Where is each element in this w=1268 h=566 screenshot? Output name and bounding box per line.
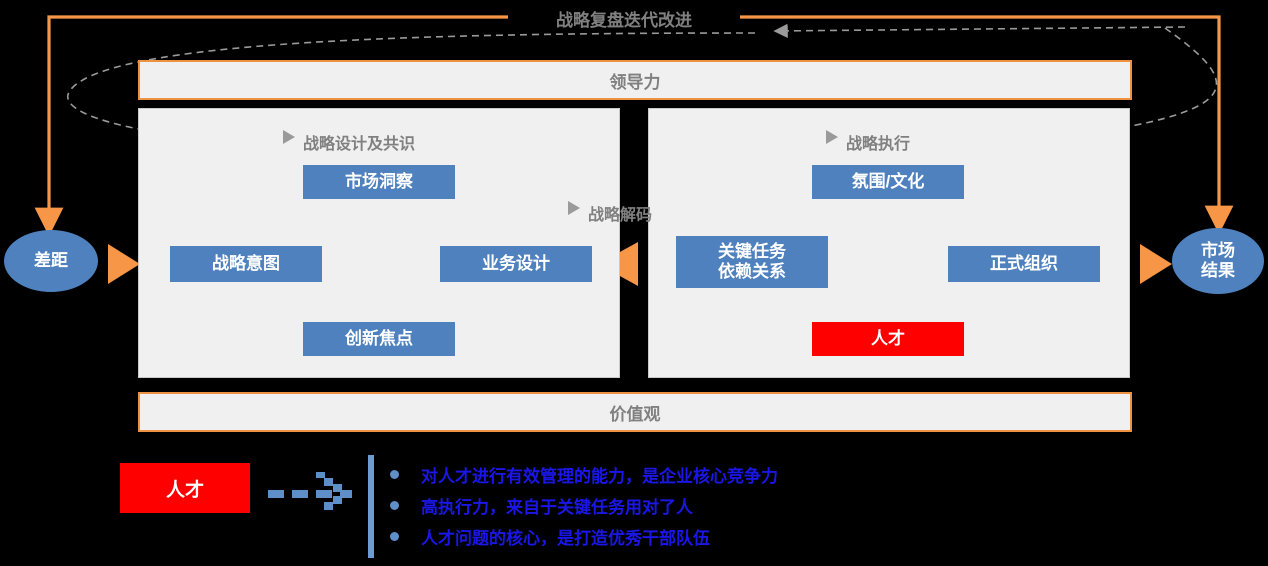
section-label-design: 战略设计及共识 (303, 130, 415, 154)
bullet-icon (390, 532, 399, 541)
node-market-insight-label: 市场洞察 (345, 172, 413, 192)
market-result-line1: 市场 (1201, 241, 1235, 260)
node-formal-organization[interactable]: 正式组织 (948, 246, 1100, 282)
market-result-line2: 结果 (1201, 261, 1235, 280)
leadership-label: 领导力 (610, 68, 661, 93)
bullet-icon (390, 470, 399, 479)
node-climate-culture-label: 氛围/文化 (852, 172, 925, 192)
dashed-arrow-icon (268, 472, 354, 516)
section-label-design-text: 战略设计及共识 (303, 136, 415, 153)
gap-label: 差距 (34, 251, 68, 271)
bullet-icon (390, 501, 399, 510)
list-item: 人才问题的核心，是打造优秀干部队伍 (390, 521, 1090, 552)
node-climate-culture[interactable]: 氛围/文化 (812, 165, 964, 199)
flow-arrow-left (108, 244, 140, 284)
diagram-canvas: 战略复盘迭代改进 领导力 价值观 战略设计及共识 战略解码 战略执行 差距 市场… (0, 0, 1268, 566)
legend-divider (368, 455, 374, 558)
section-label-execution: 战略执行 (846, 130, 910, 154)
gap-ellipse: 差距 (4, 230, 98, 292)
page-title: 战略复盘迭代改进 (556, 6, 692, 31)
node-innovation-focus[interactable]: 创新焦点 (303, 322, 455, 356)
dashed-return-top (775, 27, 1185, 31)
legend-bullet-list: 对人才进行有效管理的能力，是企业核心竞争力 高执行力，来自于关键任务用对了人 人… (390, 459, 1090, 552)
list-item: 对人才进行有效管理的能力，是企业核心竞争力 (390, 459, 1090, 490)
section-label-decode-text: 战略解码 (588, 207, 652, 224)
node-business-design[interactable]: 业务设计 (440, 246, 592, 282)
section-label-execution-text: 战略执行 (846, 136, 910, 153)
section-label-decode: 战略解码 (588, 201, 652, 225)
node-innovation-focus-label: 创新焦点 (345, 329, 413, 349)
node-key-tasks-line2: 依赖关系 (718, 262, 786, 281)
node-business-design-label: 业务设计 (482, 254, 550, 274)
node-market-insight[interactable]: 市场洞察 (303, 165, 455, 199)
node-strategic-intent-label: 战略意图 (212, 254, 280, 274)
legend-bullet-text: 高执行力，来自于关键任务用对了人 (421, 493, 693, 518)
node-talent[interactable]: 人才 (812, 322, 964, 356)
node-key-tasks-label: 关键任务 依赖关系 (718, 242, 786, 282)
values-band: 价值观 (138, 392, 1132, 432)
legend-bullet-text: 人才问题的核心，是打造优秀干部队伍 (421, 524, 710, 549)
node-talent-label: 人才 (871, 329, 905, 349)
node-key-tasks-line1: 关键任务 (718, 242, 786, 261)
legend-bullet-text: 对人才进行有效管理的能力，是企业核心竞争力 (421, 462, 778, 487)
values-label: 价值观 (610, 400, 661, 425)
legend-talent-label: 人才 (166, 475, 204, 502)
node-formal-organization-label: 正式组织 (990, 254, 1058, 274)
node-strategic-intent[interactable]: 战略意图 (170, 246, 322, 282)
list-item: 高执行力，来自于关键任务用对了人 (390, 490, 1090, 521)
legend-talent-box: 人才 (120, 463, 250, 513)
leadership-band: 领导力 (138, 60, 1132, 100)
flow-arrow-right (1140, 244, 1172, 284)
node-key-tasks[interactable]: 关键任务 依赖关系 (676, 236, 828, 288)
market-result-ellipse: 市场 结果 (1172, 228, 1264, 294)
market-result-label: 市场 结果 (1201, 241, 1235, 280)
